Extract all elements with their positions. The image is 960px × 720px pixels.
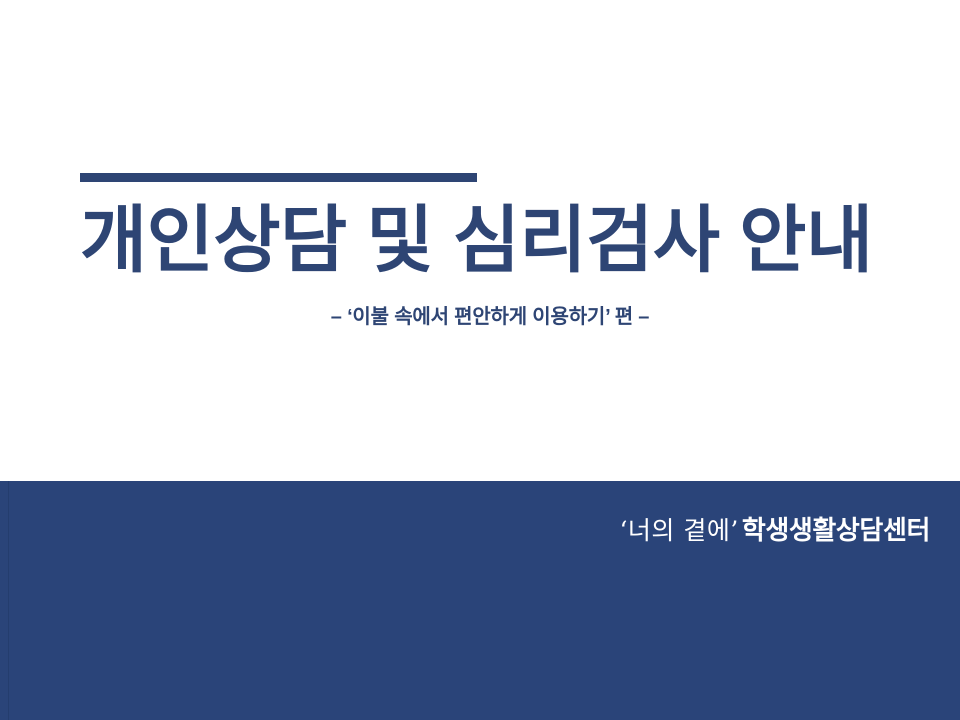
accent-bar-decoration	[80, 173, 477, 182]
page-subtitle: – ‘이불 속에서 편안하게 이용하기’ 편 –	[0, 304, 960, 330]
title-slide: 개인상담 및 심리검사 안내 – ‘이불 속에서 편안하게 이용하기’ 편 – …	[0, 0, 960, 720]
brand-organization-name: 학생생활상담센터	[742, 515, 930, 545]
footer-branding: ‘너의 곁에’학생생활상담센터	[619, 514, 930, 547]
footer-left-rule-decoration	[8, 481, 9, 720]
brand-slogan: ‘너의 곁에’	[619, 516, 741, 545]
page-title: 개인상담 및 심리검사 안내	[80, 203, 900, 279]
